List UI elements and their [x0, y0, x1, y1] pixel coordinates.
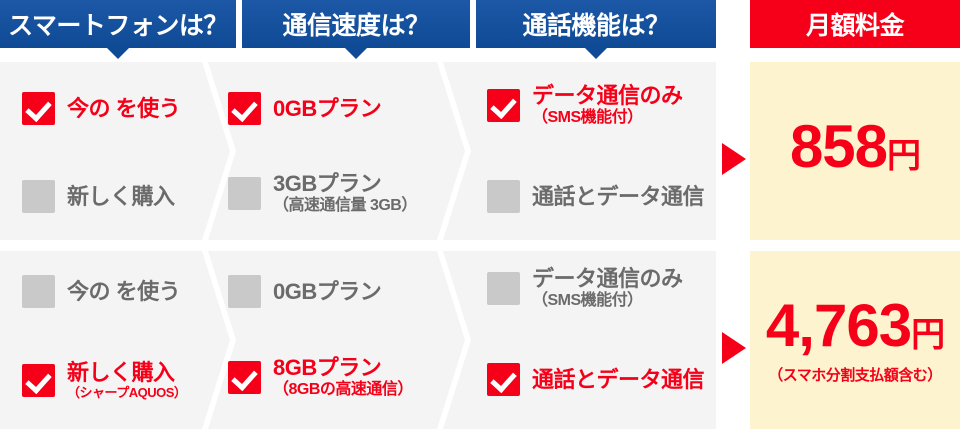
option-label: 通話とデータ通信 [532, 185, 704, 209]
price-panel-2: 4,763円 （スマホ分割支払額含む） [750, 251, 960, 429]
option-label: 新しく購入 （シャープAQUOS） [67, 361, 186, 400]
option-r1c2-a[interactable]: 0GBプラン [228, 92, 381, 125]
option-r2c3-a[interactable]: データ通信のみ （SMS機能付） [487, 267, 683, 309]
column-header-label: スマートフォンは？ [8, 6, 228, 42]
price-value: 4,763円 [766, 296, 944, 356]
price-arrow-icon [722, 143, 746, 175]
option-r1c3-a[interactable]: データ通信のみ （SMS機能付） [487, 84, 683, 126]
column-header-label: 月額料金 [806, 6, 904, 42]
option-label: 今の を使う [67, 280, 180, 304]
option-r2c1-a[interactable]: 今の を使う [22, 275, 180, 308]
chevron-divider-icon [437, 62, 471, 240]
checkbox-checked-icon[interactable] [228, 92, 261, 125]
column-header-label: 通信速度は？ [282, 6, 429, 42]
price-arrow-icon [722, 332, 746, 364]
option-label: 新しく購入 [67, 185, 175, 209]
option-label: データ通信のみ （SMS機能付） [532, 84, 683, 126]
option-label: 通話とデータ通信 [532, 368, 704, 392]
checkbox-unchecked-icon[interactable] [487, 272, 520, 305]
option-r2c3-b[interactable]: 通話とデータ通信 [487, 363, 704, 396]
option-label: 8GBプラン （8GBの高速通信） [273, 356, 413, 398]
header-notch-icon [345, 48, 367, 59]
price-panel-1: 858円 [750, 62, 960, 240]
column-header-label: 通話機能は？ [522, 6, 669, 42]
header-notch-icon [585, 48, 607, 59]
option-label: 今の を使う [67, 97, 180, 121]
option-r2c2-a[interactable]: 0GBプラン [228, 275, 381, 308]
option-label: 0GBプラン [273, 280, 381, 304]
comparison-table: スマートフォンは？ 通信速度は？ 通話機能は？ 月額料金 今の を使う 新しく [0, 0, 960, 429]
option-r1c3-b[interactable]: 通話とデータ通信 [487, 180, 704, 213]
price-value: 858円 [790, 117, 920, 177]
checkbox-unchecked-icon[interactable] [22, 180, 55, 213]
header-notch-icon [107, 48, 129, 59]
checkbox-unchecked-icon[interactable] [487, 180, 520, 213]
option-label: 3GBプラン （高速通信量 3GB） [273, 172, 417, 214]
column-header-monthly-price: 月額料金 [750, 0, 960, 48]
checkbox-checked-icon[interactable] [487, 89, 520, 122]
option-r1c1-b[interactable]: 新しく購入 [22, 180, 175, 213]
option-row-2: 今の を使う 新しく購入 （シャープAQUOS） 0GBプラン 8GBプラン （… [0, 251, 716, 429]
option-r2c2-b[interactable]: 8GBプラン （8GBの高速通信） [228, 356, 413, 398]
checkbox-checked-icon[interactable] [22, 92, 55, 125]
option-r1c2-b[interactable]: 3GBプラン （高速通信量 3GB） [228, 172, 417, 214]
option-label: 0GBプラン [273, 97, 381, 121]
column-header-smartphone: スマートフォンは？ [0, 0, 236, 48]
checkbox-checked-icon[interactable] [22, 364, 55, 397]
chevron-divider-icon [437, 251, 471, 429]
option-row-1: 今の を使う 新しく購入 0GBプラン 3GBプラン （高速通信量 3GB） [0, 62, 716, 240]
column-header-call-feature: 通話機能は？ [476, 0, 716, 48]
checkbox-unchecked-icon[interactable] [228, 177, 261, 210]
option-r1c1-a[interactable]: 今の を使う [22, 92, 180, 125]
column-header-data-speed: 通信速度は？ [242, 0, 470, 48]
option-label: データ通信のみ （SMS機能付） [532, 267, 683, 309]
option-r2c1-b[interactable]: 新しく購入 （シャープAQUOS） [22, 361, 186, 400]
price-note: （スマホ分割支払額含む） [768, 364, 942, 385]
checkbox-unchecked-icon[interactable] [22, 275, 55, 308]
checkbox-unchecked-icon[interactable] [228, 275, 261, 308]
checkbox-checked-icon[interactable] [487, 363, 520, 396]
checkbox-checked-icon[interactable] [228, 361, 261, 394]
